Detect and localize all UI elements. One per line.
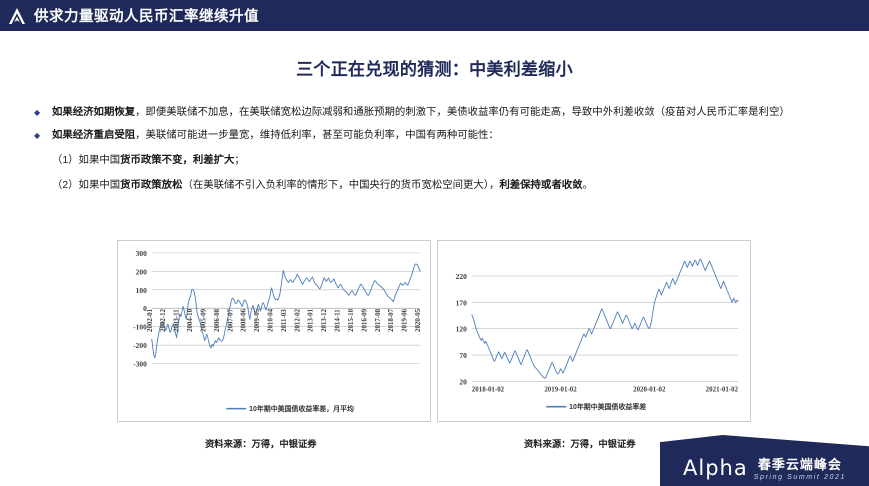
numbered-prefix: （1）如果中国 — [52, 155, 120, 166]
svg-text:2013-12: 2013-12 — [321, 308, 328, 332]
svg-text:2004-10: 2004-10 — [187, 308, 194, 332]
svg-text:100: 100 — [136, 286, 147, 295]
svg-text:20: 20 — [459, 377, 467, 386]
svg-text:2006-08: 2006-08 — [214, 308, 221, 332]
svg-text:220: 220 — [456, 272, 467, 281]
brand-badge: Alpha 春季云端峰会 Spring Summit 2021 — [660, 435, 869, 486]
numbered-bold-2: 利差保持或者收敛 — [499, 180, 582, 191]
bullet-rest: ，即便美联储不加息，在美联储宽松边际减弱和通胀预期的刺激下，美债收益率仍有可能走… — [135, 107, 790, 118]
brand-chinese-sub: Spring Summit 2021 — [754, 474, 846, 482]
svg-text:2007-07: 2007-07 — [227, 308, 234, 332]
svg-text:-100: -100 — [133, 323, 147, 332]
numbered-bold: 货币政策放松 — [120, 180, 182, 191]
bullet-text: 如果经济重启受阻，美联储可能进一步量宽，维持低利率，甚至可能负利率，中国有两种可… — [52, 127, 844, 145]
bullet-rest: ，美联储可能进一步量宽，维持低利率，甚至可能负利率，中国有两种可能性： — [135, 130, 499, 141]
svg-text:2002-01: 2002-01 — [147, 308, 154, 332]
svg-text:2012-02: 2012-02 — [294, 308, 301, 332]
svg-text:2009-05: 2009-05 — [254, 308, 261, 332]
brand-alpha-wordmark: Alpha — [683, 458, 748, 482]
svg-text:2005-09: 2005-09 — [200, 308, 207, 332]
bullet-item: ◆ 如果经济重启受阻，美联储可能进一步量宽，维持低利率，甚至可能负利率，中国有两… — [32, 127, 844, 145]
page-title: 三个正在兑现的猜测：中美利差缩小 — [0, 55, 869, 80]
chart-right-source-caption: 资料来源：万得，中银证券 — [524, 436, 636, 450]
svg-text:10年期中美国债收益率差: 10年期中美国债收益率差 — [569, 402, 646, 411]
svg-text:2003-11: 2003-11 — [174, 309, 181, 332]
bullet-bold-lead: 如果经济如期恢复 — [52, 107, 135, 118]
svg-text:70: 70 — [459, 351, 467, 360]
numbered-middle: （在美联储不引入负利率的情形下，中国央行的货币宽松空间更大）， — [182, 180, 499, 191]
numbered-prefix: （2）如果中国 — [52, 180, 120, 191]
svg-text:2008-06: 2008-06 — [241, 308, 248, 332]
chart-left: 3002001000-100-200-3002002-012002-122003… — [117, 240, 431, 422]
header-title: 供求力量驱动人民币汇率继续升值 — [34, 5, 259, 26]
brand-chinese-main: 春季云端峰会 — [758, 458, 842, 472]
triangle-a-mark-icon — [0, 0, 34, 31]
diamond-bullet-icon: ◆ — [32, 127, 52, 145]
diamond-bullet-icon: ◆ — [32, 104, 52, 122]
svg-text:2002-12: 2002-12 — [160, 308, 167, 332]
svg-text:2010-04: 2010-04 — [267, 308, 274, 332]
svg-text:-200: -200 — [133, 341, 147, 350]
svg-text:2020-05: 2020-05 — [415, 308, 422, 332]
svg-text:2015-10: 2015-10 — [348, 308, 355, 332]
svg-text:200: 200 — [136, 267, 147, 276]
numbered-item-2: （2）如果中国货币政策放松（在美联储不引入负利率的情形下，中国央行的货币宽松空间… — [32, 177, 844, 195]
svg-text:-300: -300 — [133, 360, 147, 369]
svg-text:2019-01-02: 2019-01-02 — [544, 386, 577, 393]
chart-left-svg: 3002001000-100-200-3002002-012002-122003… — [118, 241, 430, 421]
svg-text:2013-01: 2013-01 — [308, 308, 315, 332]
brand-chinese-block: 春季云端峰会 Spring Summit 2021 — [754, 458, 846, 482]
numbered-item-1: （1）如果中国货币政策不变，利差扩大； — [32, 152, 844, 170]
svg-text:2018-07: 2018-07 — [388, 308, 395, 332]
svg-text:2021-01-02: 2021-01-02 — [706, 386, 739, 393]
svg-text:170: 170 — [456, 298, 467, 307]
svg-text:300: 300 — [136, 249, 147, 258]
numbered-bold: 货币政策不变，利差扩大 — [120, 155, 234, 166]
bullet-item: ◆ 如果经济如期恢复，即便美联储不加息，在美联储宽松边际减弱和通胀预期的刺激下，… — [32, 104, 844, 122]
content-body: ◆ 如果经济如期恢复，即便美联储不加息，在美联储宽松边际减弱和通胀预期的刺激下，… — [32, 104, 844, 195]
header-bar: 供求力量驱动人民币汇率继续升值 — [0, 0, 869, 31]
svg-text:2014-11: 2014-11 — [335, 309, 342, 332]
svg-text:2018-01-02: 2018-01-02 — [472, 386, 505, 393]
numbered-suffix: ； — [234, 155, 244, 166]
brand-inner: Alpha 春季云端峰会 Spring Summit 2021 — [660, 458, 869, 482]
slide: 供求力量驱动人民币汇率继续升值 三个正在兑现的猜测：中美利差缩小 ◆ 如果经济如… — [0, 0, 869, 486]
chart-right: 22017012070202018-01-022019-01-022020-01… — [437, 240, 751, 422]
svg-text:2017-08: 2017-08 — [375, 308, 382, 332]
svg-text:10年期中美国债收益率差，月平均: 10年期中美国债收益率差，月平均 — [249, 404, 354, 413]
svg-text:2020-01-02: 2020-01-02 — [633, 386, 666, 393]
svg-text:2011-03: 2011-03 — [281, 309, 288, 332]
svg-text:2016-09: 2016-09 — [361, 308, 368, 332]
numbered-suffix: 。 — [583, 180, 593, 191]
svg-text:2019-06: 2019-06 — [402, 308, 409, 332]
chart-right-svg: 22017012070202018-01-022019-01-022020-01… — [438, 241, 750, 421]
svg-text:120: 120 — [456, 325, 467, 334]
bullet-bold-lead: 如果经济重启受阻 — [52, 130, 135, 141]
bullet-text: 如果经济如期恢复，即便美联储不加息，在美联储宽松边际减弱和通胀预期的刺激下，美债… — [52, 104, 844, 122]
chart-left-source-caption: 资料来源：万得，中银证券 — [205, 436, 317, 450]
